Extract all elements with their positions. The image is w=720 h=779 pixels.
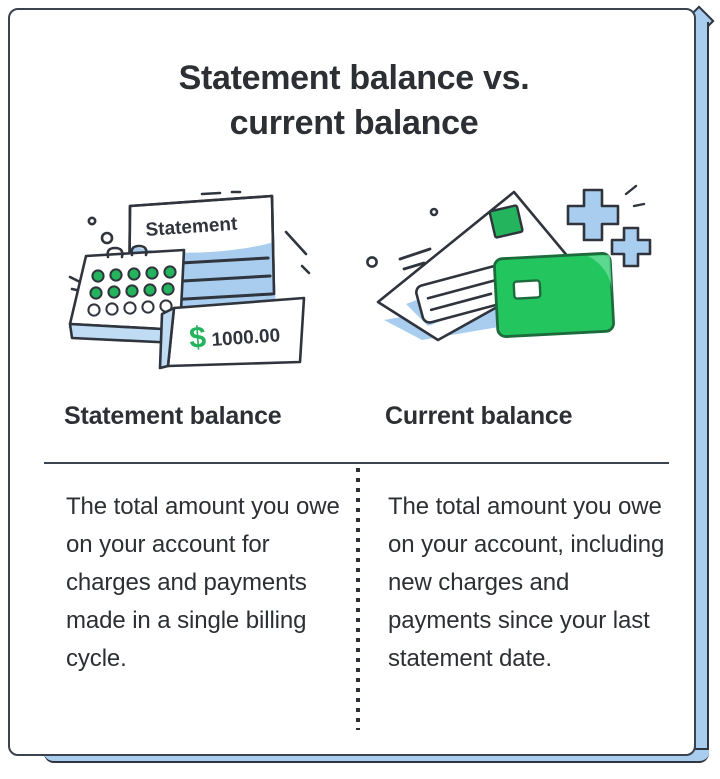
page-title-line-2: current balance [10,101,696,146]
credit-card-chip [514,280,541,298]
illustration-row: Statement [10,180,696,380]
bubble-large [367,257,376,266]
bubble-small [431,209,437,215]
column-description-statement-balance: The total amount you owe on your account… [66,488,346,678]
statement-motion-ticks [286,232,309,273]
sparkle-plus-large [568,190,618,240]
infographic-card: Statement balance vs. current balance [8,8,696,756]
vertical-dotted-divider [356,468,360,730]
stamp [489,205,522,238]
page-title-line-1: Statement balance vs. [10,56,696,101]
infographic-root: Statement balance vs. current balance [0,0,720,779]
horizontal-divider [44,462,669,464]
page-title: Statement balance vs. current balance [10,56,696,146]
sparkle-plus-small [612,228,650,266]
current-balance-illustration [362,180,662,380]
column-heading-current-balance: Current balance [385,402,572,431]
statement-illustration: Statement [50,180,350,380]
amount-symbol: $ [188,321,207,355]
credit-card [494,253,614,337]
bubble-large [102,233,112,243]
bubble-small [89,218,95,224]
statement-top-ticks [202,192,240,194]
card-edge-right [694,22,709,754]
column-heading-statement-balance: Statement balance [64,402,282,431]
column-description-current-balance: The total amount you owe on your account… [388,488,673,678]
sparkle-ticks [626,186,644,206]
